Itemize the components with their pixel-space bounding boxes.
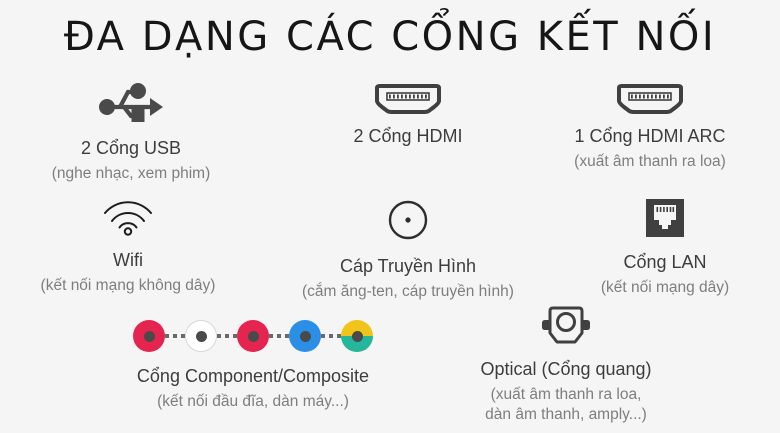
rca-pin (144, 331, 155, 342)
port-label-cable-tv: Cáp Truyền Hình (258, 255, 558, 278)
usb-icon (0, 82, 262, 124)
rca-jack-white (185, 320, 217, 352)
port-label-wifi: Wifi (6, 249, 250, 272)
port-label-optical: Optical (Cổng quang) (432, 358, 700, 381)
rca-jack-yellow-green (341, 320, 373, 352)
rca-jack-red-2 (237, 320, 269, 352)
port-sublabel-cable-tv: (cắm ăng-ten, cáp truyền hình) (258, 282, 558, 302)
rca-jack-blue (289, 320, 321, 352)
port-sublabel-hdmi-arc: (xuất âm thanh ra loa) (520, 152, 780, 172)
port-sublabel-usb: (nghe nhạc, xem phim) (0, 164, 262, 184)
rca-connectors-icon (78, 320, 428, 352)
rca-dots-separator (321, 334, 341, 338)
port-sublabel-optical-line2: dàn âm thanh, amply...) (432, 405, 700, 425)
port-label-usb: 2 Cổng USB (0, 137, 262, 160)
port-item-hdmi: 2 Cổng HDMI (296, 84, 520, 148)
port-label-lan: Cổng LAN (552, 251, 778, 274)
page-title: ĐA DẠNG CÁC CỔNG KẾT NỐI (0, 14, 780, 60)
rca-pin (352, 331, 363, 342)
port-item-component-composite: Cổng Component/Composite (kết nối đầu đĩ… (78, 320, 428, 412)
connectivity-infographic: ĐA DẠNG CÁC CỔNG KẾT NỐI 2 Cổng USB (ngh… (0, 0, 780, 433)
rca-dots-separator (165, 334, 185, 338)
lan-rj45-icon (552, 198, 778, 238)
rca-pin (248, 331, 259, 342)
port-sublabel-component-composite: (kết nối đầu đĩa, dàn máy...) (78, 392, 428, 412)
port-label-hdmi-arc: 1 Cổng HDMI ARC (520, 125, 780, 148)
port-sublabel-wifi: (kết nối mạng không dây) (6, 276, 250, 296)
rca-pin (300, 331, 311, 342)
hdmi-arc-port-icon (520, 84, 780, 114)
port-item-hdmi-arc: 1 Cổng HDMI ARC (xuất âm thanh ra loa) (520, 84, 780, 172)
port-sublabel-optical-line1: (xuất âm thanh ra loa, (432, 385, 700, 405)
port-item-usb: 2 Cổng USB (nghe nhạc, xem phim) (0, 82, 262, 184)
optical-toslink-icon (432, 305, 700, 349)
rca-pin (196, 331, 207, 342)
port-item-cable-tv: Cáp Truyền Hình (cắm ăng-ten, cáp truyền… (258, 198, 558, 302)
coaxial-antenna-icon (258, 198, 558, 242)
port-item-wifi: Wifi (kết nối mạng không dây) (6, 198, 250, 296)
port-label-component-composite: Cổng Component/Composite (78, 365, 428, 388)
port-sublabel-lan: (kết nối mạng dây) (552, 278, 778, 298)
port-label-hdmi: 2 Cổng HDMI (296, 125, 520, 148)
rca-dots-separator (217, 334, 237, 338)
port-item-optical: Optical (Cổng quang) (xuất âm thanh ra l… (432, 305, 700, 425)
rca-jack-red-1 (133, 320, 165, 352)
port-item-lan: Cổng LAN (kết nối mạng dây) (552, 198, 778, 298)
rca-dots-separator (269, 334, 289, 338)
hdmi-port-icon (296, 84, 520, 114)
wifi-icon (6, 198, 250, 236)
